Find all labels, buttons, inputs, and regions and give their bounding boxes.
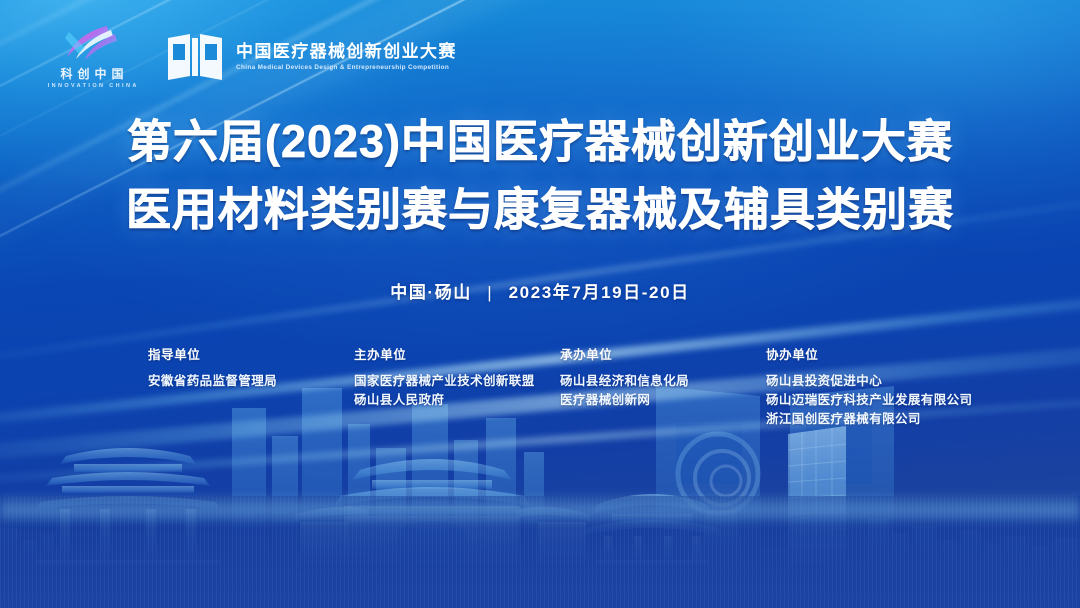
headline-line-2: 医用材料类别赛与康复器械及辅具类别赛 xyxy=(0,176,1080,244)
sponsor-column-coorganizer: 协办单位 砀山县投资促进中心 砀山迈瑞医疗科技产业发展有限公司 浙江国创医疗器械… xyxy=(766,344,1016,429)
sponsor-item: 砀山县投资促进中心 xyxy=(766,372,1016,391)
competition-logo: 中国医疗器械创新创业大赛 China Medical Devices Desig… xyxy=(166,32,457,82)
sponsor-item: 安徽省药品监督管理局 xyxy=(148,372,354,391)
sponsor-column-host: 主办单位 国家医疗器械产业技术创新联盟 砀山县人民政府 xyxy=(354,344,560,429)
sponsor-item: 砀山县经济和信息化局 xyxy=(560,372,766,391)
competition-logo-en: China Medical Devices Design & Entrepren… xyxy=(236,64,457,71)
event-info-separator: | xyxy=(487,283,493,302)
poster-headline: 第六届(2023)中国医疗器械创新创业大赛 医用材料类别赛与康复器械及辅具类别赛 xyxy=(0,108,1080,244)
logo-row: 科创中国 INNOVATION CHINA 中国医疗器械创新创业大赛 China… xyxy=(44,24,457,89)
conference-poster: 科创中国 INNOVATION CHINA 中国医疗器械创新创业大赛 China… xyxy=(0,0,1080,608)
sponsor-column-title: 协办单位 xyxy=(766,344,1016,363)
sponsor-column-title: 承办单位 xyxy=(560,344,766,363)
sponsor-column-title: 主办单位 xyxy=(354,344,560,363)
sponsor-columns: 指导单位 安徽省药品监督管理局 主办单位 国家医疗器械产业技术创新联盟 砀山县人… xyxy=(148,344,1016,429)
sponsor-column-title: 指导单位 xyxy=(148,344,354,363)
sponsor-item: 浙江国创医疗器械有限公司 xyxy=(766,410,1016,429)
event-location: 中国·砀山 xyxy=(390,283,472,302)
event-info-bar: 中国·砀山 | 2023年7月19日-20日 xyxy=(0,278,1080,303)
event-dates: 2023年7月19日-20日 xyxy=(509,283,690,302)
sponsor-item: 医疗器械创新网 xyxy=(560,391,766,410)
sponsor-column-guidance: 指导单位 安徽省药品监督管理局 xyxy=(148,344,354,429)
sponsor-item: 砀山迈瑞医疗科技产业发展有限公司 xyxy=(766,391,1016,410)
sponsor-column-organizer: 承办单位 砀山县经济和信息化局 医疗器械创新网 xyxy=(560,344,766,429)
kechuang-china-logo: 科创中国 INNOVATION CHINA xyxy=(44,24,140,89)
phoenix-bird-logo-icon xyxy=(61,24,123,62)
sponsor-item: 国家医疗器械产业技术创新联盟 xyxy=(354,372,560,391)
sponsor-item: 砀山县人民政府 xyxy=(354,391,560,410)
open-book-logo-icon xyxy=(166,32,224,82)
kechuang-logo-cn: 科创中国 xyxy=(55,65,128,82)
competition-logo-cn: 中国医疗器械创新创业大赛 xyxy=(236,42,457,62)
kechuang-logo-en: INNOVATION CHINA xyxy=(45,83,138,89)
headline-line-1: 第六届(2023)中国医疗器械创新创业大赛 xyxy=(0,108,1080,176)
